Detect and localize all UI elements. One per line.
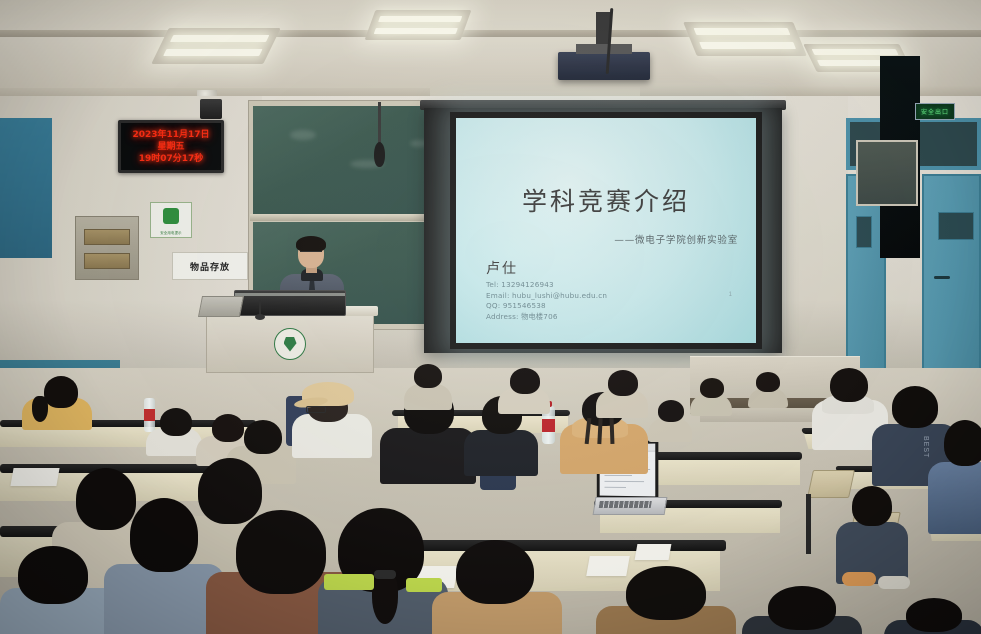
student [0, 546, 120, 634]
ceiling-light-panel [151, 28, 281, 64]
projector-mount-plate [576, 44, 632, 54]
shoe [878, 576, 910, 589]
contact-qq: QQ: 951546538 [486, 301, 607, 312]
storage-sign: 物品存放 [172, 252, 248, 280]
chalk-rail [250, 214, 450, 221]
student [928, 420, 981, 530]
ceiling-light-panel [683, 22, 807, 56]
slide-subtitle: ——微电子学院创新实验室 [614, 232, 738, 246]
podium-microphone [259, 300, 261, 316]
podium [206, 313, 374, 373]
podium-monitor [234, 290, 346, 316]
student [318, 508, 448, 634]
student [22, 376, 92, 428]
ceiling-beam [0, 30, 981, 37]
slide-page-mark: 1 [729, 292, 732, 298]
student [596, 370, 648, 414]
contact-tel: Tel: 13294126943 [486, 280, 607, 291]
classroom-scene: 安全用电提示 物品存放 2023年11月17日 星期五 19时07分17秒 学科… [0, 0, 981, 634]
presentation-slide: 学科竞赛介绍 ——微电子学院创新实验室 卢仕 Tel: 13294126943 … [456, 118, 756, 343]
led-clock-display: 2023年11月17日 星期五 19时07分17秒 [118, 120, 224, 173]
student-with-beige-cap [292, 380, 372, 454]
wall-panel-teal [0, 118, 52, 258]
student [432, 540, 562, 634]
student [836, 486, 908, 582]
student [742, 586, 862, 634]
chalk-smudge [290, 130, 316, 140]
stripe [610, 418, 615, 444]
contact-address: Address: 物电楼706 [486, 312, 607, 323]
student [146, 408, 202, 452]
slide-title: 学科竞赛介绍 [456, 182, 756, 218]
ceiling-projector [558, 52, 650, 80]
student [596, 566, 736, 634]
led-clock-weekday: 星期五 [157, 141, 184, 153]
slide-contact-list: Tel: 13294126943 Email: hubu_lushi@hubu.… [486, 280, 607, 322]
paper-sheet [635, 544, 672, 560]
transom-window [912, 118, 981, 170]
ceiling-light-panel [365, 10, 472, 40]
student [884, 598, 981, 634]
upper-dark-panel [856, 140, 918, 206]
podium-laptop [198, 296, 244, 317]
blackboard-upper [253, 106, 447, 214]
student [748, 372, 788, 406]
glasses [306, 406, 326, 413]
student [690, 378, 732, 414]
wall-speaker [200, 99, 222, 119]
contact-email: Email: hubu_lushi@hubu.edu.cn [486, 291, 607, 302]
collar [324, 574, 374, 590]
led-clock-time: 19时07分17秒 [139, 153, 204, 165]
student [404, 364, 452, 406]
hair-tie [374, 570, 396, 579]
student [498, 368, 550, 410]
student [648, 400, 692, 438]
electrical-panel [75, 216, 139, 280]
exit-sign: 安全出口 [915, 103, 955, 120]
slide-presenter-name: 卢仕 [486, 258, 518, 278]
door-right-leaf[interactable] [922, 174, 981, 376]
led-clock-date: 2023年11月17日 [132, 129, 209, 141]
university-emblem [274, 328, 306, 360]
shoe [842, 572, 876, 586]
hanging-eraser [378, 102, 381, 144]
safety-notice-sign: 安全用电提示 [150, 202, 192, 238]
chair-frame [806, 494, 811, 554]
